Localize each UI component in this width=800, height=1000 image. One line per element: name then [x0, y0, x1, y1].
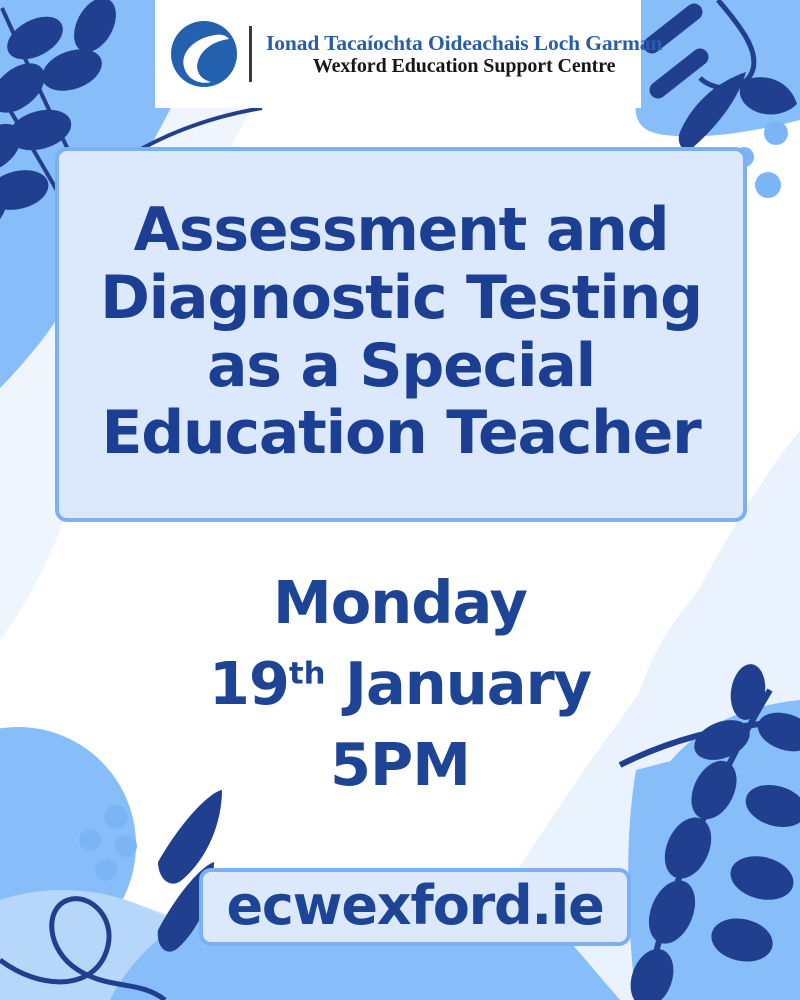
logo-text-block: Ionad Tacaíochta Oideachais Loch Garman … — [266, 31, 662, 77]
logo-line-english: Wexford Education Support Centre — [266, 55, 662, 77]
website-card[interactable]: ecwexford.ie — [199, 868, 631, 946]
crescent-wave-logo-icon — [169, 19, 239, 89]
event-poster: Ionad Tacaíochta Oideachais Loch Garman … — [0, 0, 800, 1000]
event-month: January — [345, 649, 591, 718]
event-date-number: 19 — [209, 649, 289, 718]
page-title: Assessment and Diagnostic Testing as a S… — [59, 197, 743, 468]
event-date-line: 19th January — [0, 644, 800, 725]
title-card: Assessment and Diagnostic Testing as a S… — [55, 147, 747, 522]
event-day: Monday — [0, 563, 800, 644]
website-url[interactable]: ecwexford.ie — [226, 879, 603, 933]
event-date-suffix: th — [289, 656, 326, 691]
logo-divider — [249, 26, 252, 82]
event-time: 5PM — [0, 725, 800, 806]
event-date-block: Monday 19th January 5PM — [0, 563, 800, 805]
logo-banner: Ionad Tacaíochta Oideachais Loch Garman … — [155, 0, 641, 108]
logo-line-irish: Ionad Tacaíochta Oideachais Loch Garman — [266, 31, 662, 55]
